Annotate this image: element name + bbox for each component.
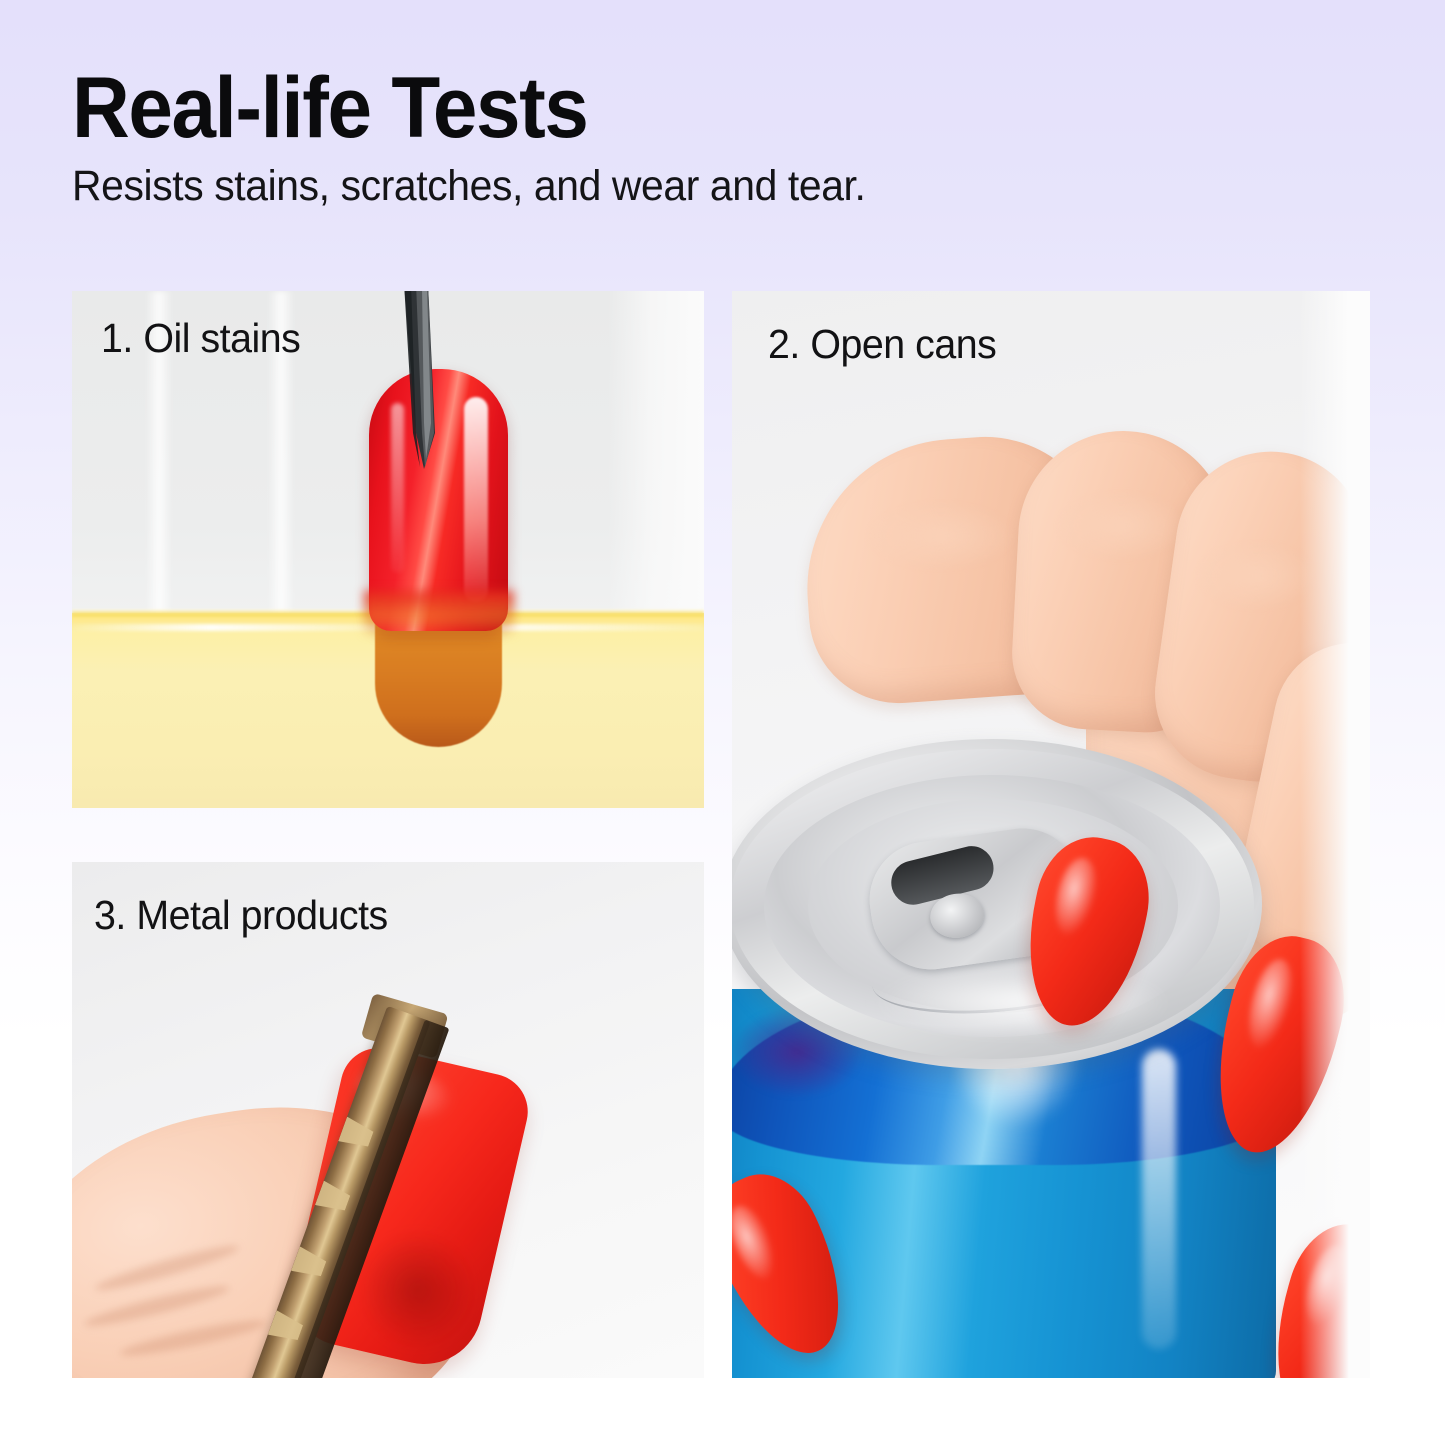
page-subtitle: Resists stains, scratches, and wear and … <box>72 160 1307 212</box>
can-lid <box>732 739 1262 1069</box>
panel-oil-stains[interactable]: 1. Oil stains <box>72 291 704 808</box>
nail-gloss-highlight <box>464 397 488 602</box>
panel-right-fade <box>1300 291 1370 1378</box>
panel-oil-label: 1. Oil stains <box>101 315 300 362</box>
nail-gloss-highlight <box>1049 854 1103 940</box>
infographic-root: Real-life Tests Resists stains, scratche… <box>0 0 1445 1445</box>
panel-metal-products[interactable]: 3. Metal products <box>72 862 704 1378</box>
header: Real-life Tests Resists stains, scratche… <box>72 62 1372 212</box>
oil-waterline-blend <box>364 591 514 637</box>
knuckle-2 <box>1056 491 1186 561</box>
can-lid-highlight <box>872 967 1172 1037</box>
tweezers-icon <box>402 291 448 473</box>
nail-gloss-highlight <box>732 1199 785 1286</box>
panel-metal-label: 3. Metal products <box>94 892 388 939</box>
can-highlight-vertical <box>1142 1049 1176 1349</box>
panel-open-cans[interactable]: 2. Open cans <box>732 291 1370 1378</box>
panel-cans-label: 2. Open cans <box>768 321 996 368</box>
nail-submerged-stain <box>375 621 502 747</box>
page-title: Real-life Tests <box>72 62 1281 154</box>
nail-gloss-highlight <box>1241 955 1300 1054</box>
knuckle-1 <box>866 501 1016 571</box>
knuckle-3 <box>1196 541 1316 611</box>
